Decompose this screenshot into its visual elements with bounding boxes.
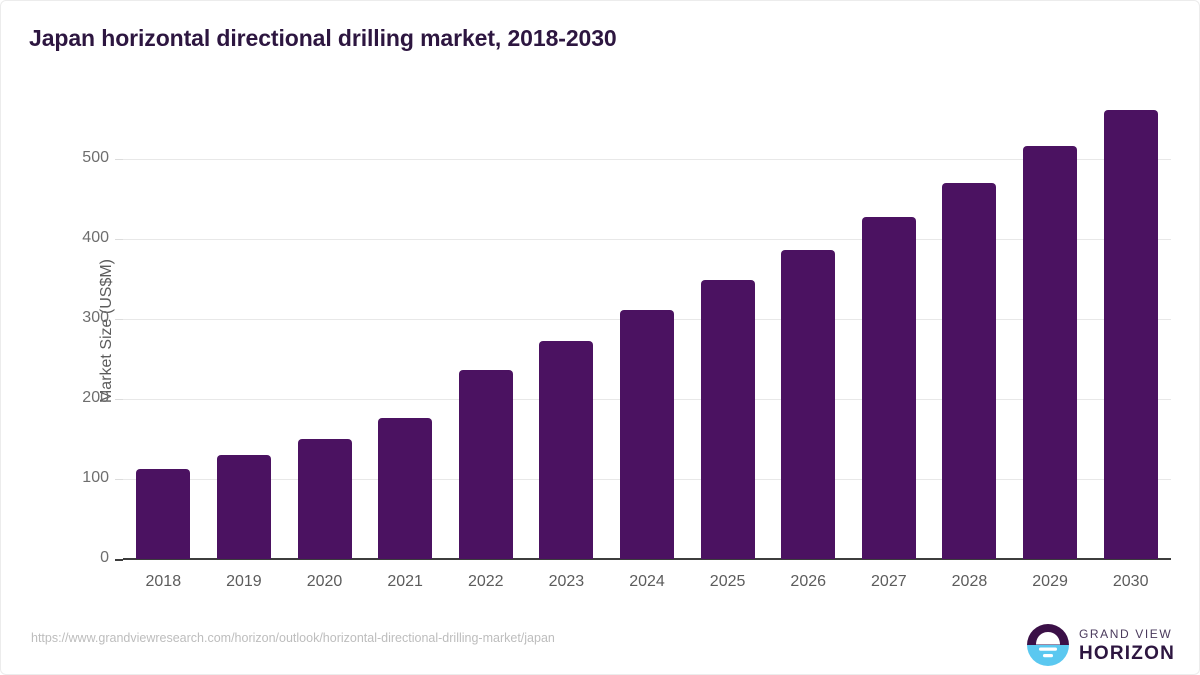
logo-text: GRAND VIEW HORIZON bbox=[1079, 628, 1175, 663]
y-axis-tick-mark bbox=[115, 559, 123, 561]
y-axis-tick-label: 100 bbox=[59, 469, 109, 487]
bar-slot bbox=[365, 97, 446, 559]
logo-line1: GRAND VIEW bbox=[1079, 628, 1175, 640]
bar-slot bbox=[849, 97, 930, 559]
x-axis-tick-label: 2022 bbox=[445, 573, 526, 591]
y-axis-tick-mark bbox=[115, 159, 123, 160]
y-axis-tick-mark bbox=[115, 399, 123, 400]
bar[interactable] bbox=[701, 280, 755, 559]
chart-page: Japan horizontal directional drilling ma… bbox=[0, 0, 1200, 675]
logo-line2: HORIZON bbox=[1079, 644, 1175, 663]
bar-slot bbox=[687, 97, 768, 559]
bar[interactable] bbox=[539, 341, 593, 559]
bar[interactable] bbox=[459, 370, 513, 559]
x-axis-tick-label: 2025 bbox=[687, 573, 768, 591]
bar[interactable] bbox=[298, 439, 352, 559]
bar-slot bbox=[1090, 97, 1171, 559]
chart-canvas: Market Size (US$M) 0100200300400500 2018… bbox=[1, 1, 1200, 675]
x-axis-tick-label: 2018 bbox=[123, 573, 204, 591]
bar[interactable] bbox=[620, 310, 674, 559]
bar-slot bbox=[768, 97, 849, 559]
x-axis-tick-label: 2021 bbox=[365, 573, 446, 591]
horizon-sun-icon bbox=[1026, 623, 1070, 667]
y-axis-title: Market Size (US$M) bbox=[98, 259, 116, 403]
x-axis-tick-label: 2030 bbox=[1090, 573, 1171, 591]
bar[interactable] bbox=[781, 250, 835, 559]
x-axis-tick-label: 2026 bbox=[768, 573, 849, 591]
y-axis-tick-mark bbox=[115, 319, 123, 320]
bar[interactable] bbox=[1023, 146, 1077, 559]
x-axis-tick-label: 2028 bbox=[929, 573, 1010, 591]
y-axis-tick-label: 500 bbox=[59, 149, 109, 167]
y-axis-tick-label: 400 bbox=[59, 229, 109, 247]
x-axis-tick-label: 2023 bbox=[526, 573, 607, 591]
bar-series bbox=[123, 97, 1171, 559]
bar[interactable] bbox=[862, 217, 916, 559]
grand-view-horizon-logo: GRAND VIEW HORIZON bbox=[1026, 623, 1175, 667]
y-axis-tick-mark bbox=[115, 479, 123, 480]
y-axis-tick-label: 200 bbox=[59, 389, 109, 407]
bar[interactable] bbox=[136, 469, 190, 559]
bar[interactable] bbox=[942, 183, 996, 559]
source-url[interactable]: https://www.grandviewresearch.com/horizo… bbox=[31, 631, 555, 645]
x-axis-tick-label: 2019 bbox=[204, 573, 285, 591]
bar-slot bbox=[284, 97, 365, 559]
bar-slot bbox=[1010, 97, 1091, 559]
bar-slot bbox=[526, 97, 607, 559]
bar[interactable] bbox=[217, 455, 271, 559]
bar-slot bbox=[204, 97, 285, 559]
x-axis-tick-label: 2024 bbox=[607, 573, 688, 591]
x-axis-tick-label: 2029 bbox=[1010, 573, 1091, 591]
y-axis-tick-label: 300 bbox=[59, 309, 109, 327]
y-axis-title-holder: Market Size (US$M) bbox=[21, 171, 51, 491]
bar-slot bbox=[929, 97, 1010, 559]
bar[interactable] bbox=[378, 418, 432, 559]
y-axis-tick-label: 0 bbox=[59, 549, 109, 567]
bar-slot bbox=[607, 97, 688, 559]
x-axis-tick-label: 2027 bbox=[849, 573, 930, 591]
x-axis-tick-label: 2020 bbox=[284, 573, 365, 591]
bar-slot bbox=[445, 97, 526, 559]
bar[interactable] bbox=[1104, 110, 1158, 559]
bar-slot bbox=[123, 97, 204, 559]
y-axis-tick-mark bbox=[115, 239, 123, 240]
